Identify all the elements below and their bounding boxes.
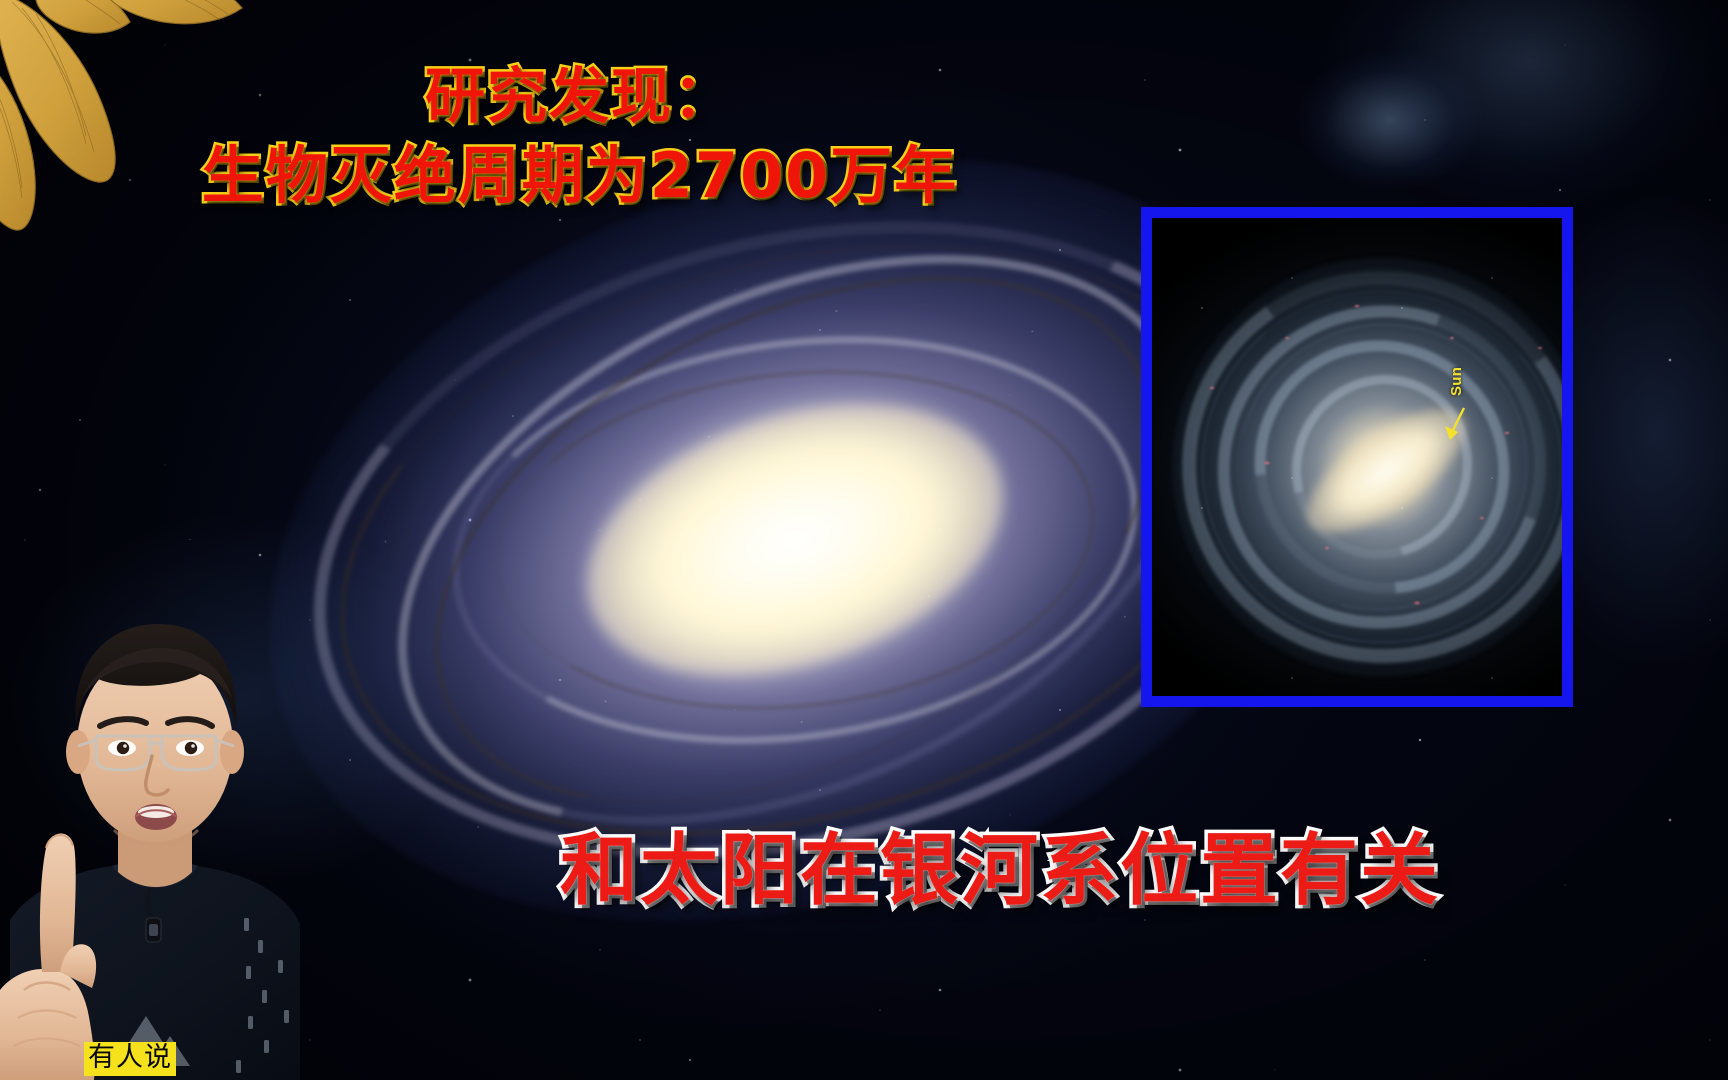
sun-pointer-arrow-icon [1438,406,1472,446]
milky-way-star-speckle [1152,218,1562,696]
golden-leaves-icon [0,0,260,256]
sun-label: Sun [1448,367,1465,396]
milky-way-inset-panel: Sun [1141,207,1573,707]
presenter-figure [0,520,300,1080]
channel-watermark: 有人说 [84,1042,176,1076]
thumbnail-canvas: Sun [0,0,1728,1080]
milky-way-image: Sun [1152,218,1562,696]
